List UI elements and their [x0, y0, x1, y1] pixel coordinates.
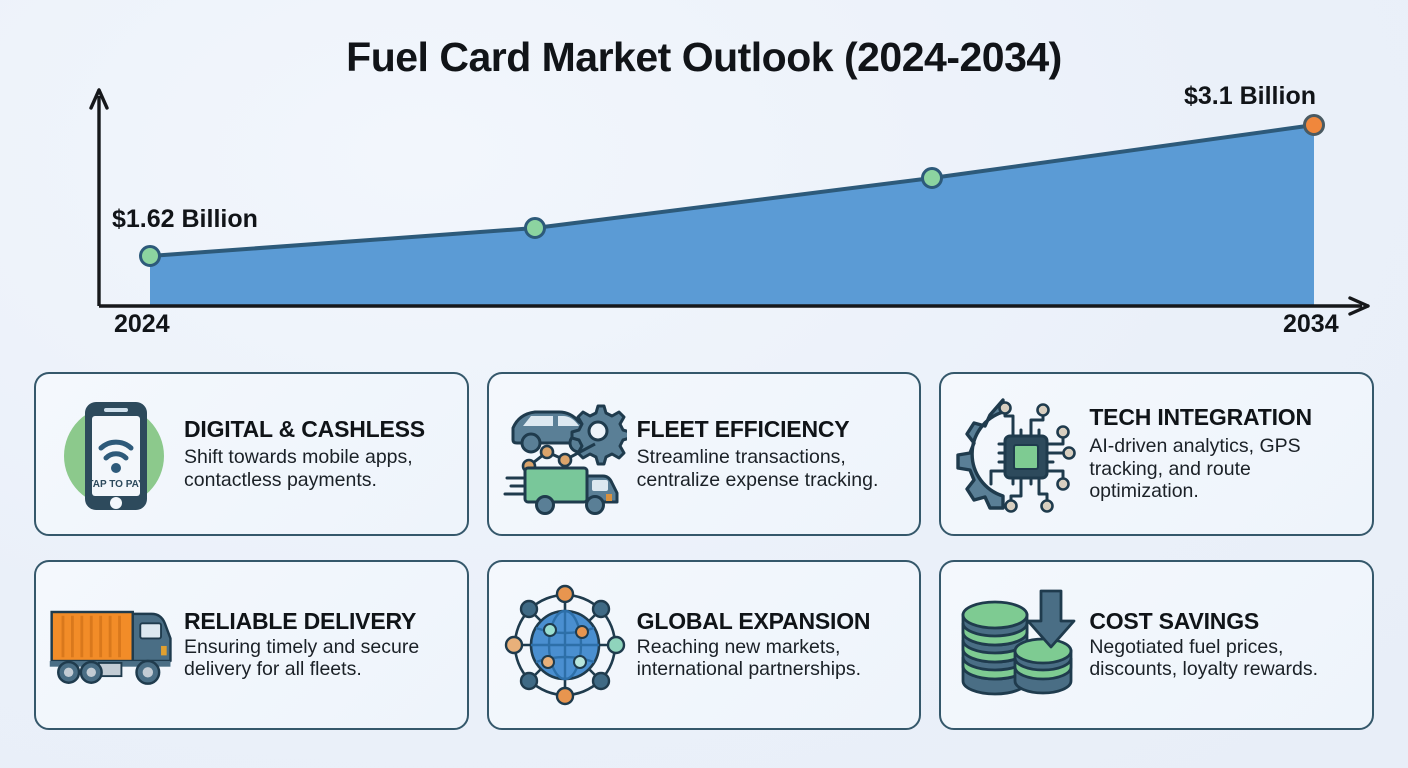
infographic-root: Fuel Card Market Outlook (2024-2034) $1.… [0, 0, 1408, 768]
chart-area-fill [150, 125, 1314, 306]
card-description: Ensuring timely and secure delivery for … [184, 636, 453, 681]
tap-to-pay-phone-icon: TAP TO PAY [46, 388, 178, 520]
data-point-marker[interactable] [141, 247, 160, 266]
coin-stack-arrow-icon [951, 579, 1083, 711]
card-reliable-delivery[interactable]: RELIABLE DELIVERY Ensuring timely and se… [34, 560, 469, 730]
card-text-block: FLEET EFFICIENCY Streamline transactions… [631, 417, 906, 492]
card-description: AI-driven analytics, GPS tracking, and r… [1089, 435, 1358, 503]
microchip-gear-icon [951, 388, 1083, 520]
card-description: Streamline transactions, centralize expe… [637, 446, 906, 491]
card-digital-cashless[interactable]: TAP TO PAY DIGITAL & CASHLESS Shift towa… [34, 372, 469, 536]
card-text-block: COST SAVINGS Negotiated fuel prices, dis… [1083, 609, 1358, 681]
card-title: GLOBAL EXPANSION [637, 609, 906, 634]
card-text-block: DIGITAL & CASHLESS Shift towards mobile … [178, 417, 453, 492]
card-text-block: GLOBAL EXPANSION Reaching new markets, i… [631, 609, 906, 681]
page-title: Fuel Card Market Outlook (2024-2034) [0, 34, 1408, 81]
feature-cards-grid: TAP TO PAY DIGITAL & CASHLESS Shift towa… [34, 372, 1374, 730]
data-point-marker[interactable] [526, 219, 545, 238]
gear-icon [572, 406, 627, 464]
card-fleet-efficiency[interactable]: FLEET EFFICIENCY Streamline transactions… [487, 372, 922, 536]
card-title: TECH INTEGRATION [1089, 405, 1358, 430]
container-truck-icon [46, 579, 178, 711]
card-title: RELIABLE DELIVERY [184, 609, 453, 634]
market-growth-chart: $1.62 Billion $3.1 Billion 2024 2034 [0, 78, 1408, 350]
tap-to-pay-caption: TAP TO PAY [87, 479, 145, 490]
card-description: Shift towards mobile apps, contactless p… [184, 446, 453, 491]
card-title: FLEET EFFICIENCY [637, 417, 906, 442]
card-global-expansion[interactable]: GLOBAL EXPANSION Reaching new markets, i… [487, 560, 922, 730]
card-cost-savings[interactable]: COST SAVINGS Negotiated fuel prices, dis… [939, 560, 1374, 730]
x-tick-label-end: 2034 [1283, 310, 1339, 339]
card-title: COST SAVINGS [1089, 609, 1358, 634]
fleet-vehicles-gear-icon [499, 388, 631, 520]
data-point-marker[interactable] [923, 169, 942, 188]
globe-network-icon [499, 579, 631, 711]
card-tech-integration[interactable]: TECH INTEGRATION AI-driven analytics, GP… [939, 372, 1374, 536]
start-value-label: $1.62 Billion [112, 205, 258, 234]
card-text-block: RELIABLE DELIVERY Ensuring timely and se… [178, 609, 453, 681]
end-value-label: $3.1 Billion [1184, 82, 1316, 111]
card-title: DIGITAL & CASHLESS [184, 417, 453, 442]
card-text-block: TECH INTEGRATION AI-driven analytics, GP… [1083, 405, 1358, 502]
truck-icon [505, 468, 617, 514]
card-description: Negotiated fuel prices, discounts, loyal… [1089, 636, 1358, 681]
card-description: Reaching new markets, international part… [637, 636, 906, 681]
x-tick-label-start: 2024 [114, 310, 170, 339]
data-point-marker-end[interactable] [1305, 116, 1324, 135]
